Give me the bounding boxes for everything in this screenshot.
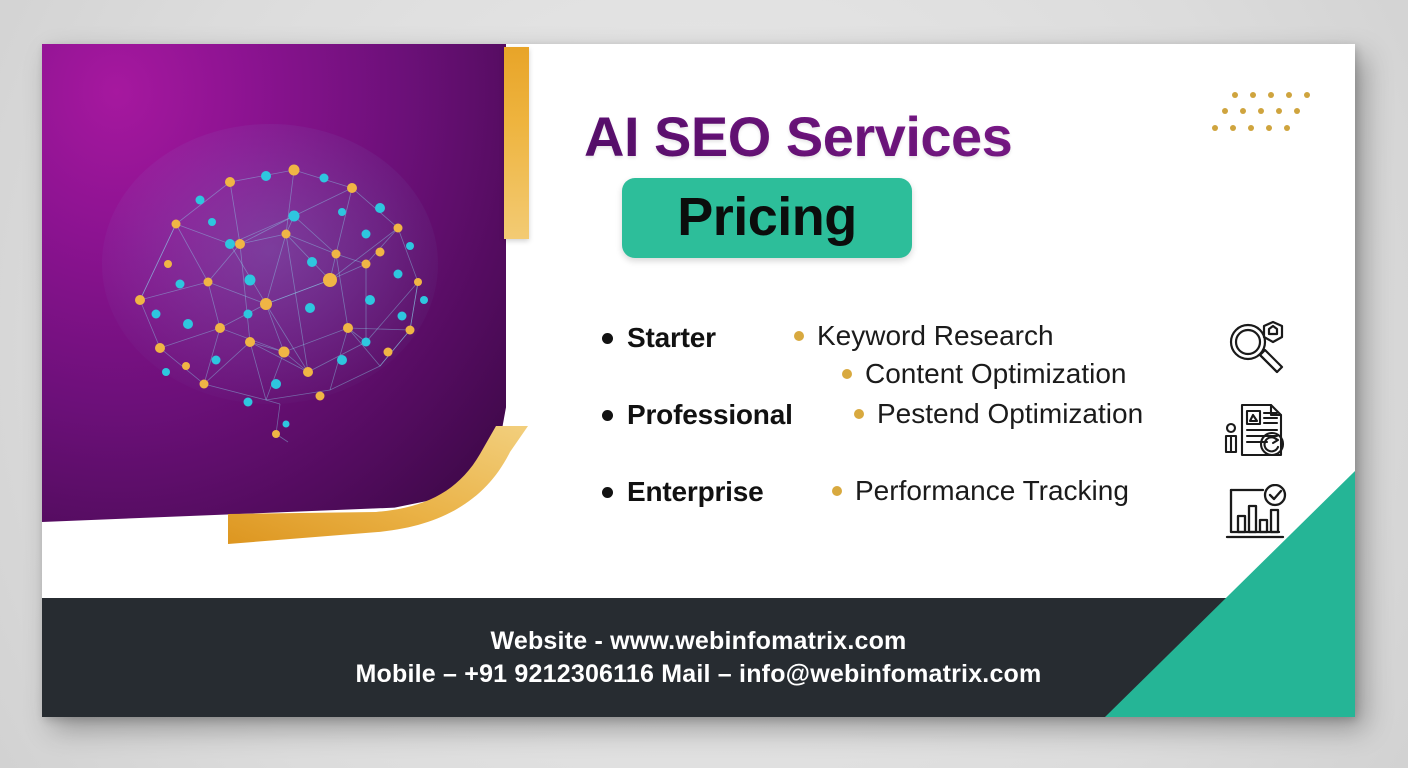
bullet-dot-gold-icon: [854, 409, 864, 419]
feature-item: Content Optimization: [842, 358, 1126, 390]
side-icon-list: [1223, 316, 1297, 568]
pricing-row: Starter Keyword Research Content Optimiz…: [602, 322, 1302, 399]
tier-professional: Professional: [602, 399, 793, 431]
pricing-badge: Pricing: [622, 178, 912, 258]
gold-vertical-bar: [504, 47, 529, 239]
pricing-row: Professional Pestend Optimization: [602, 399, 1302, 476]
tier-enterprise: Enterprise: [602, 476, 764, 508]
pricing-rows: Starter Keyword Research Content Optimiz…: [602, 322, 1302, 553]
feature-label: Keyword Research: [817, 320, 1054, 352]
feature-item: Keyword Research: [794, 320, 1054, 352]
gold-dot-grid: [1211, 88, 1311, 142]
document-optimization-icon: [1223, 400, 1289, 462]
feature-item: Pestend Optimization: [854, 398, 1143, 430]
bullet-dot-gold-icon: [842, 369, 852, 379]
tier-label: Starter: [627, 322, 716, 354]
banner-stage: AI SEO Services Pricing Starter Keyword …: [0, 0, 1408, 768]
bullet-dot-icon: [602, 333, 613, 344]
feature-label: Performance Tracking: [855, 475, 1129, 507]
magnifier-search-icon: [1223, 316, 1289, 378]
bar-chart-check-icon: [1223, 484, 1289, 546]
bullet-dot-gold-icon: [832, 486, 842, 496]
pricing-row: Enterprise Performance Tracking: [602, 476, 1302, 553]
pricing-badge-label: Pricing: [622, 186, 912, 248]
feature-item: Performance Tracking: [832, 475, 1129, 507]
footer-website-line: Website - www.webinfomatrix.com: [42, 624, 1355, 657]
gold-curved-ribbon: [228, 426, 548, 544]
tier-starter: Starter: [602, 322, 716, 354]
bullet-dot-gold-icon: [794, 331, 804, 341]
tier-label: Enterprise: [627, 476, 764, 508]
page-title: AI SEO Services: [584, 104, 1012, 169]
bullet-dot-icon: [602, 487, 613, 498]
feature-label: Content Optimization: [865, 358, 1126, 390]
pricing-banner-card: AI SEO Services Pricing Starter Keyword …: [42, 44, 1355, 717]
bullet-dot-icon: [602, 410, 613, 421]
tier-label: Professional: [627, 399, 793, 431]
feature-label: Pestend Optimization: [877, 398, 1143, 430]
